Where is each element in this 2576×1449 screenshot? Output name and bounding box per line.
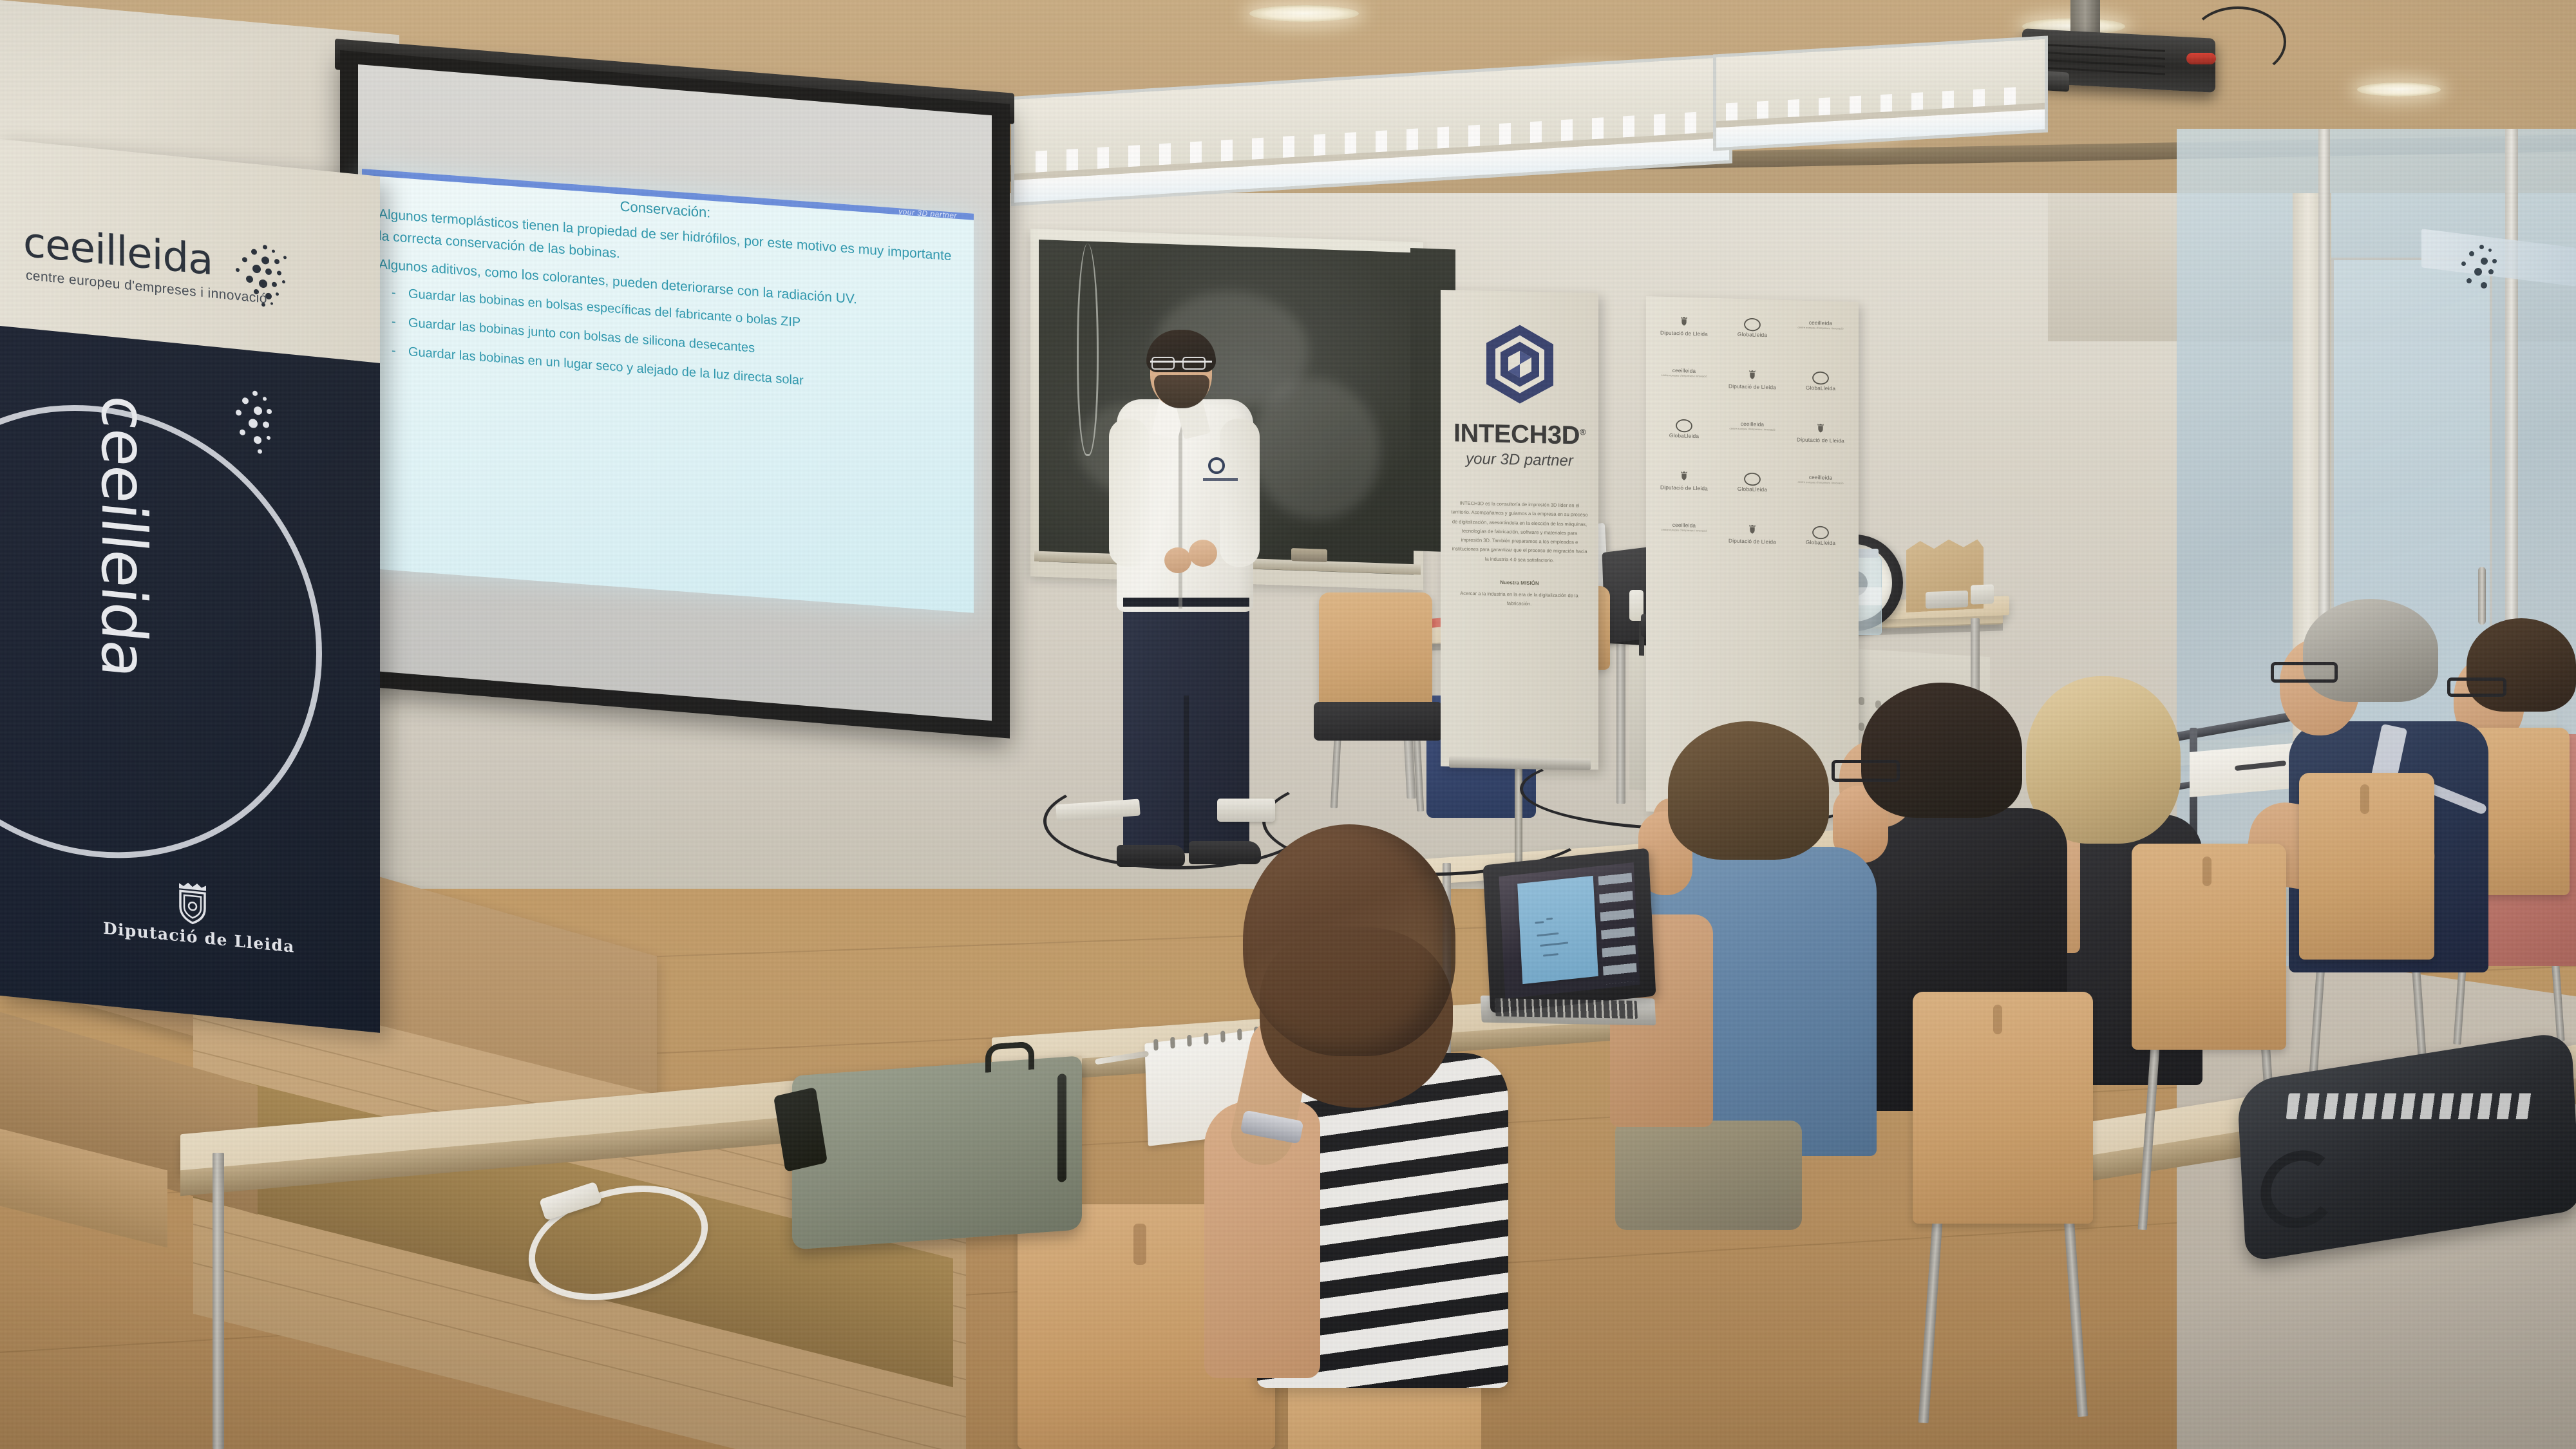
laptop-bag[interactable] [792,1056,1082,1249]
banner-ceeilleida-body: ceeilleida Diputació [0,325,380,1033]
ceiling-light [2357,82,2441,97]
backdrop-logo: GlobaLleida [1789,371,1852,393]
registered-mark: ® [1580,427,1586,437]
ceiling-light [1249,5,1359,22]
ceeilleida-dots-icon [220,386,291,464]
presenter-glasses-bridge [1150,361,1212,363]
bottle-label [1855,587,1882,605]
chair-notch [2202,857,2211,886]
presenter-belt [1123,598,1249,607]
backdrop-logo: Diputació de Lleida [1789,422,1852,444]
banner-intech3d: INTECH3D® your 3D partner INTECH3D es la… [1441,290,1598,770]
backdrop-logo: Diputació de Lleida [1653,470,1716,492]
audience-laptop-keyboard[interactable] [1495,998,1638,1019]
presenter-chest-logo-text [1203,478,1238,481]
backdrop-logo: ceeilleidacentre europeu d'empreses i in… [1789,319,1852,341]
presenter-arm-right [1220,419,1260,567]
intech3d-mission-text: Acercar a la industria en la era de la d… [1455,589,1584,610]
backdrop-logo: ceeilleidacentre europeu d'empreses i in… [1721,421,1784,442]
projector-cable [2190,6,2286,77]
bag-handle[interactable] [985,1041,1034,1072]
intech3d-mission-label: Nuestra MISIÓN [1441,578,1598,587]
blackboard-eraser[interactable] [1291,548,1327,562]
backdrop-logo: GlobaLleida [1721,472,1784,494]
backpack-strap[interactable] [2259,1145,2340,1234]
backdrop-logo: Diputació de Lleida [1721,369,1784,391]
bottle-cap [1858,549,1879,558]
banner-ceeilleida-header: ceeilleida [0,138,380,363]
presenter-hand-right [1189,540,1217,567]
intech3d-logo-icon [1482,321,1557,406]
chair-seat-dark [1314,702,1443,741]
desk-leg [213,1153,224,1449]
banner-ceeilleida: ceeilleida [0,138,380,1033]
presenter-hand-left [1164,547,1191,573]
printed-sample-grey-plate[interactable] [1926,591,1968,609]
bag-zipper[interactable] [1057,1074,1066,1182]
chair[interactable] [1319,592,1432,715]
intech3d-wordmark: INTECH3D® [1441,419,1598,451]
printed-sample-white-clip[interactable] [1971,584,1994,604]
intech3d-description: INTECH3D es la consultoría de impresión … [1451,498,1588,565]
backdrop-logo: GlobaLleida [1789,526,1852,547]
grey-hair [2303,599,2438,702]
chair[interactable] [1913,992,2093,1224]
classroom-photo: Materiales FDM INTECH3D ® your 3D partne… [0,0,2576,1449]
lleida-coat-of-arms-icon [174,877,211,926]
ceeilleida-logo-lockup: ceeilleida [23,219,358,323]
presenter-glasses-right-lens [1182,357,1206,370]
crest-icon [1680,316,1689,327]
backdrop-logo: Diputació de Lleida [1721,524,1784,545]
chair-notch [1133,1224,1146,1265]
presentation-slide: Materiales FDM INTECH3D ® your 3D partne… [362,169,974,613]
backpack-lettering [2286,1094,2532,1119]
crest-icon [1680,471,1689,481]
ceeilleida-vertical-wordmark: ceeilleida [88,392,160,680]
laptop-screen-document-window [1517,876,1598,984]
intech3d-tagline: your 3D partner [1441,450,1598,471]
crest-icon [1817,423,1825,433]
backdrop-logo: GlobaLleida [1721,317,1784,339]
presenter-chest-logo-icon [1208,457,1225,474]
presenter-shirt-placket [1179,425,1182,609]
crest-icon [1748,370,1757,380]
backdrop-logo: ceeilleidacentre europeu d'empreses i in… [1653,367,1716,389]
crest-icon [1748,524,1757,535]
backdrop-logo: Diputació de Lleida [1653,316,1716,337]
chair-notch [1993,1005,2002,1034]
hair [1668,721,1829,860]
backdrop-logo: ceeilleidacentre europeu d'empreses i in… [1789,474,1852,496]
clerestory-window [1713,35,2048,151]
hair [1243,824,1455,1056]
backdrop-logo: GlobaLleida [1653,419,1716,440]
backdrop-logo: ceeilleidacentre europeu d'empreses i in… [1653,522,1716,544]
presenter-glasses-left-lens [1151,357,1175,370]
laptop-screen-icon-grid [1598,873,1638,984]
floor-power-socket[interactable] [1217,799,1275,822]
chair-notch [2360,784,2369,814]
glasses-icon [2271,662,2338,683]
shorts [1615,1121,1802,1230]
presenter-arm-left [1109,419,1149,567]
